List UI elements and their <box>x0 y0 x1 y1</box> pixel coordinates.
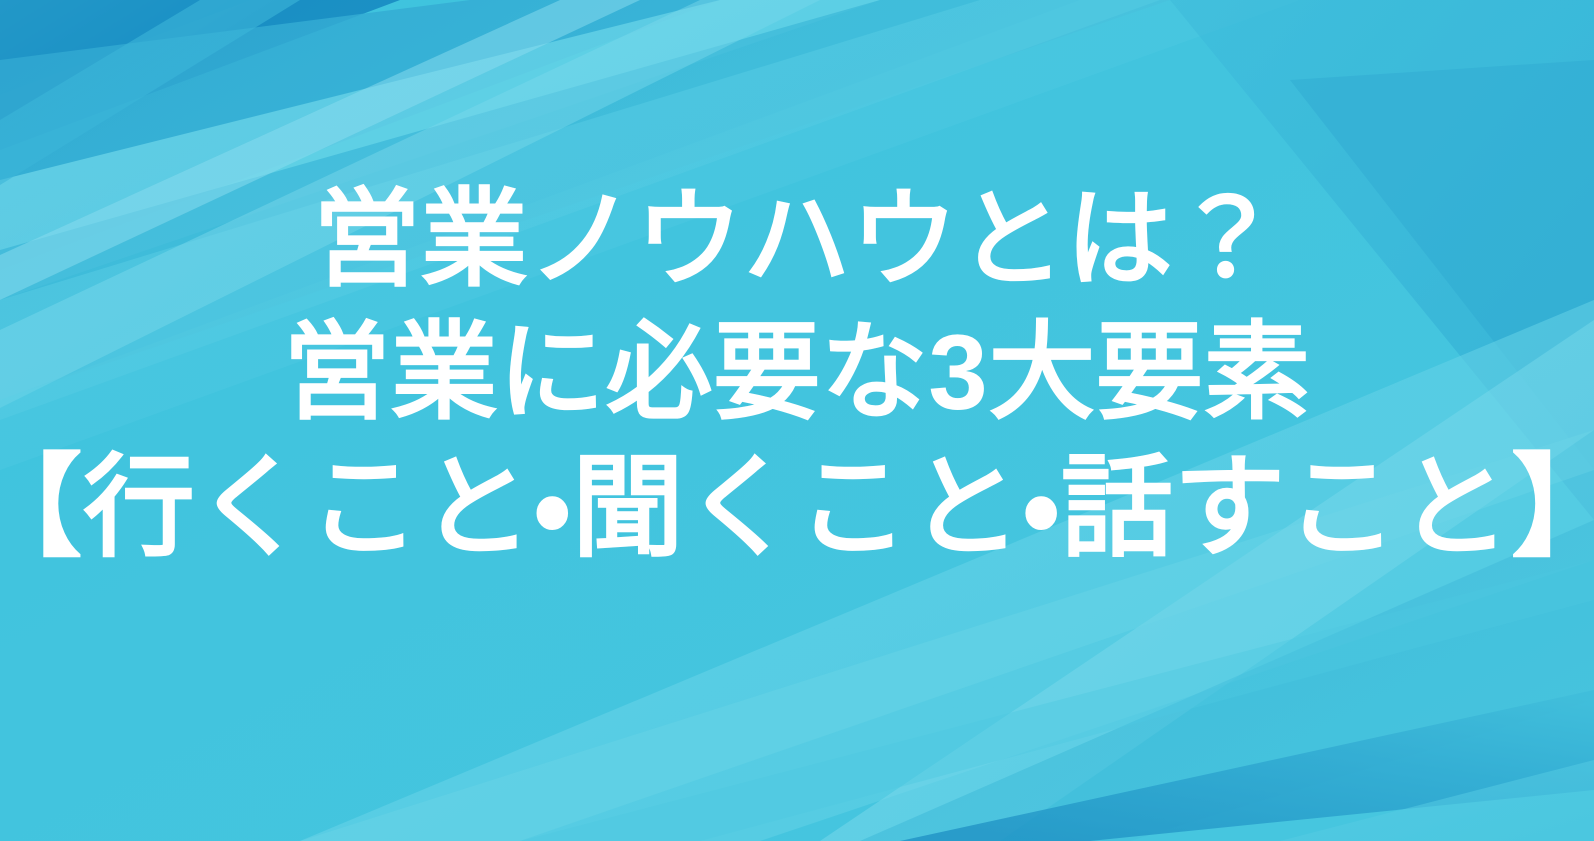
title-line-3: 【行くこと・聞くこと・話すこと】 <box>0 452 1594 564</box>
title-line-1: 営業ノウハウとは？ <box>313 186 1281 293</box>
title-line-2: 営業に必要な3大要素 <box>283 319 1311 426</box>
article-header-banner: 営業ノウハウとは？ 営業に必要な3大要素 【行くこと・聞くこと・話すこと】 <box>0 0 1594 841</box>
banner-title-block: 営業ノウハウとは？ 営業に必要な3大要素 【行くこと・聞くこと・話すこと】 <box>0 0 1594 841</box>
